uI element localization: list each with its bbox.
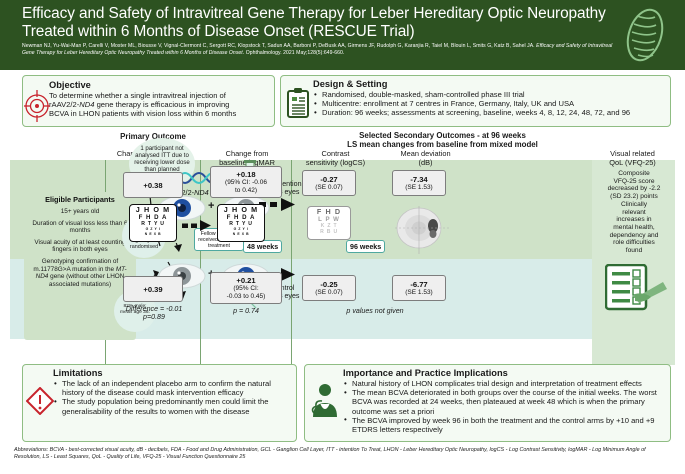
primary-control-value: +0.39	[123, 276, 183, 302]
dashed-arrow-right-icon	[259, 198, 307, 212]
clipboard-icon	[286, 87, 310, 119]
objective-heading: Objective	[49, 80, 269, 90]
primary-difference-footer: Difference = -0.01 p=0.89	[116, 305, 192, 322]
eligible-heading: Eligible Participants	[28, 195, 132, 204]
eligible-criterion: Genotyping confirmation of m.11778G>A mu…	[28, 258, 132, 288]
citation-line: Newman NJ, Yu-Wai-Man P, Carelli V, Most…	[22, 43, 622, 57]
list-item: The BCVA improved by week 96 in both the…	[343, 416, 666, 434]
dashed-arrow-right-icon-primary	[182, 220, 214, 232]
list-item: Randomised, double-masked, sham-controll…	[313, 90, 666, 99]
vfq-result-text: Composite VFQ-25 score decreased by -2.2…	[594, 170, 674, 255]
importance-heading: Importance and Practice Implications	[343, 368, 666, 378]
design-bullet-list: Randomised, double-masked, sham-controll…	[313, 90, 666, 118]
meandev-control-value: -6.77 (SE 1.53)	[392, 275, 446, 301]
poster-root: Efficacy and Safety of Intravitreal Gene…	[0, 0, 685, 474]
poster-header: Efficacy and Safety of Intravitreal Gene…	[0, 0, 685, 70]
list-item: The lack of an independent placebo arm t…	[53, 379, 292, 397]
design-heading: Design & Setting	[313, 79, 666, 89]
questionnaire-hand-icon	[605, 264, 667, 316]
abbreviations-footer: Abbreviations: BCVA - best-corrected vis…	[14, 447, 674, 461]
objective-line-3: BCVA in LHON patients with vision loss w…	[49, 109, 269, 118]
objective-line-2-post: gene therapy is efficacious in improving	[94, 100, 229, 109]
list-item: The study population being predominantly…	[53, 397, 292, 415]
list-item: Duration: 96 weeks; assessments at scree…	[313, 108, 666, 117]
contrast-control-value: -0.25 (SE 0.07)	[302, 275, 356, 301]
objective-line-2-pre: rAAV2/2-	[49, 100, 79, 109]
citation-authors: Newman NJ, Yu-Wai-Man P, Carelli V, Most…	[22, 43, 536, 49]
week-96-pill: 96 weeks	[346, 240, 385, 253]
design-setting-box: Design & Setting Randomised, double-mask…	[280, 75, 671, 127]
primary-treatment-value: +0.38	[123, 172, 183, 198]
column-header-contrast-sensitivity: Contrastsensitivity (logCS)	[292, 150, 379, 167]
snellen-chart-contrast-treatment: F H D L P W K Z T R B U	[307, 206, 351, 240]
meandev-treatment-value: -7.34 (SE 1.53)	[392, 170, 446, 196]
column-header-mean-deviation: Mean deviation(dB)	[382, 150, 469, 167]
visual-field-plot-icon	[395, 204, 451, 256]
eligible-criterion: Duration of visual loss less than 6 mont…	[28, 220, 132, 235]
objective-gene-name: ND4	[79, 100, 94, 109]
target-icon	[24, 89, 50, 123]
plus-sign: +	[208, 202, 214, 210]
secondary-change-control-value: +0.21 (95% CI: -0.03 to 0.45)	[210, 272, 282, 304]
limitations-bullet-list: The lack of an independent placebo arm t…	[53, 379, 292, 416]
snellen-chart-treatment-96wk: J H O M F H D A R T Y U G Z Y I N E X B	[217, 204, 265, 242]
doctor-icon	[309, 383, 341, 419]
limitations-box: Limitations The lack of an independent p…	[22, 364, 297, 442]
secondary-pvalues-note: p values not given	[300, 307, 450, 315]
mitochondrion-icon	[615, 6, 675, 64]
objective-line-1: To determine whether a single intravitre…	[49, 91, 269, 100]
importance-box: Importance and Practice Implications Nat…	[304, 364, 671, 442]
eligible-criterion: 15+ years old	[28, 208, 132, 216]
objective-box: Objective To determine whether a single …	[22, 75, 275, 127]
citation-journal: . Ophthalmology. 2021 May;128(5):649-660…	[243, 50, 345, 56]
list-item: The mean BCVA deteriorated in both group…	[343, 388, 666, 416]
secondary-change-pvalue: p = 0.74	[210, 307, 282, 315]
secondary-change-treatment-value: +0.18 (95% CI: -0.06 to 0.42)	[210, 166, 282, 198]
limitations-heading: Limitations	[53, 368, 292, 378]
snellen-chart-treatment-48wk: J H O M F H D A R T Y U G Z Y I N E X B	[129, 204, 177, 242]
column-header-visual-qol: Visual relatedQoL (VFQ-25)	[590, 150, 675, 167]
warning-triangle-icon	[26, 387, 54, 415]
importance-bullet-list: Natural history of LHON complicates tria…	[343, 379, 666, 434]
secondary-outcome-header-line2: LS mean changes from baseline from mixed…	[210, 140, 675, 149]
objective-line-2: rAAV2/2-ND4 gene therapy is efficacious …	[49, 100, 269, 109]
contrast-treatment-value: -0.27 (SE 0.07)	[302, 170, 356, 196]
list-item: Multicentre: enrollment at 7 centres in …	[313, 99, 666, 108]
list-item: Natural history of LHON complicates tria…	[343, 379, 666, 388]
page-title: Efficacy and Safety of Intravitreal Gene…	[22, 5, 627, 40]
main-results-panel: Primary Outcome Selected Secondary Outco…	[10, 132, 675, 360]
secondary-outcome-header-line1: Selected Secondary Outcomes - at 96 week…	[210, 131, 675, 140]
eligible-criterion: Visual acuity of at least counting finge…	[28, 239, 132, 254]
